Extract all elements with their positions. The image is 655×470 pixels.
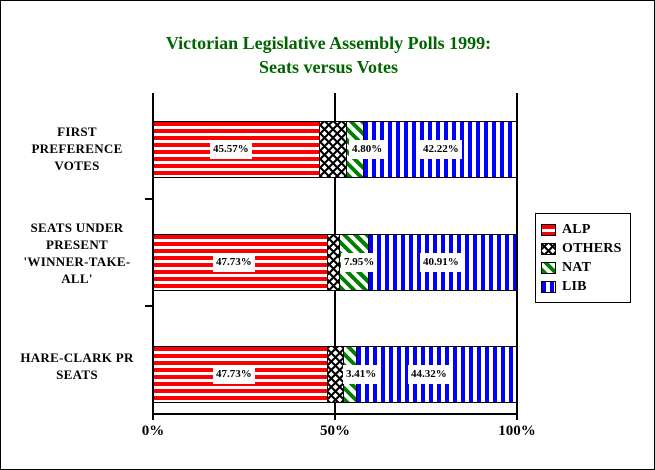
legend-item-alp[interactable]: ALP [541, 220, 625, 239]
legend-item-nat[interactable]: NAT [541, 258, 625, 277]
x-axis-tick-label-50pct: 50% [295, 423, 375, 440]
category-label-line: PREFERENCE [3, 140, 151, 157]
x-axis-tick-100pct [516, 413, 518, 420]
legend-label-others: OTHERS [562, 241, 622, 257]
legend: ALP OTHERS NAT LIB [535, 213, 631, 303]
legend-swatch-alp-icon [541, 224, 556, 236]
chart-title: Victorian Legislative Assembly Polls 199… [1, 31, 655, 79]
x-axis-tick-0pct [152, 413, 154, 420]
category-label-line: VOTES [3, 157, 151, 174]
data-label-lib: 40.91% [420, 253, 462, 272]
category-label-seats-under-present-winner-take-all: SEATS UNDER PRESENT 'WINNER-TAKE- ALL' [3, 219, 151, 287]
legend-swatch-lib-icon [541, 281, 556, 293]
chart-page: Victorian Legislative Assembly Polls 199… [0, 0, 655, 470]
category-label-line: FIRST [3, 123, 151, 140]
x-axis-tick-50pct [334, 413, 336, 420]
data-label-alp: 47.73% [213, 365, 255, 384]
category-label-first-preference-votes: FIRST PREFERENCE VOTES [3, 123, 151, 174]
data-label-alp: 45.57% [210, 140, 252, 159]
data-label-nat: 3.41% [343, 365, 379, 384]
category-label-line: 'WINNER-TAKE- [3, 253, 151, 270]
y-axis-tick [145, 305, 153, 307]
legend-swatch-nat-icon [541, 262, 556, 274]
y-axis-tick [145, 198, 153, 200]
plot-area: 45.57% 4.80% 42.22% 47.73% 7.95% 40.91% … [153, 93, 517, 414]
category-label-line: SEATS [3, 366, 151, 383]
chart-title-line-2: Seats versus Votes [1, 55, 655, 79]
category-label-line: PRESENT [3, 236, 151, 253]
data-label-lib: 44.32% [408, 365, 450, 384]
bar-segment-others[interactable] [327, 234, 339, 291]
data-label-nat: 4.80% [349, 140, 385, 159]
legend-label-alp: ALP [562, 222, 591, 238]
legend-label-lib: LIB [562, 279, 587, 295]
x-axis-tick-label-0pct: 0% [113, 423, 193, 440]
legend-item-lib[interactable]: LIB [541, 277, 625, 296]
data-label-nat: 7.95% [341, 253, 377, 272]
legend-label-nat: NAT [562, 260, 591, 276]
category-label-line: ALL' [3, 270, 151, 287]
bar-segment-others[interactable] [327, 346, 344, 403]
category-label-line: SEATS UNDER [3, 219, 151, 236]
x-axis-tick-label-100pct: 100% [477, 423, 557, 440]
category-label-line: HARE-CLARK PR [3, 349, 151, 366]
data-label-alp: 47.73% [213, 253, 255, 272]
bar-segment-others[interactable] [319, 121, 346, 178]
chart-title-line-1: Victorian Legislative Assembly Polls 199… [1, 31, 655, 55]
data-label-lib: 42.22% [420, 140, 462, 159]
legend-swatch-others-icon [541, 243, 556, 255]
legend-item-others[interactable]: OTHERS [541, 239, 625, 258]
category-label-hare-clark-pr-seats: HARE-CLARK PR SEATS [3, 349, 151, 383]
